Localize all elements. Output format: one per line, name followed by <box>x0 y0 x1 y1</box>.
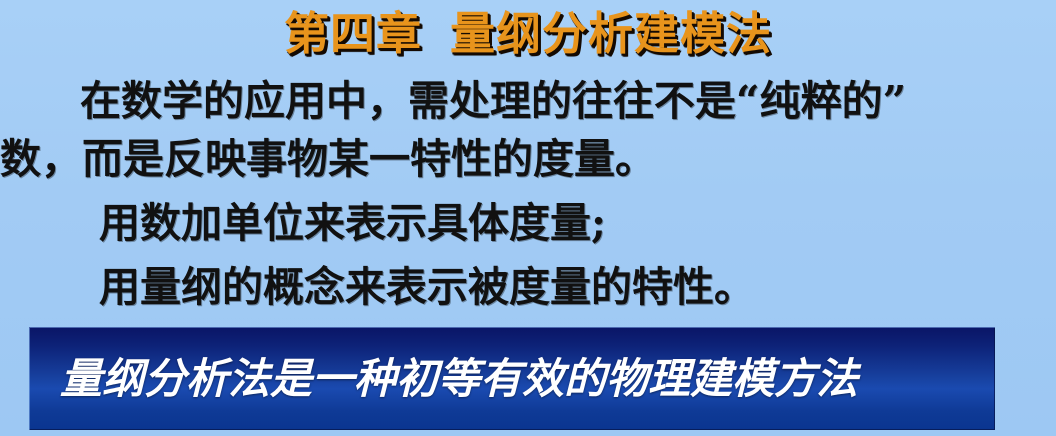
body-line-1: 在数学的应用中，需处理的往往不是“纯粹的” <box>0 72 1056 130</box>
banner-text: 量纲分析法是一种初等有效的物理建模方法 <box>60 351 858 407</box>
title-main-label: 量纲分析建模法 <box>450 7 772 60</box>
body-line-4: 用量纲的概念来表示被度量的特性。 <box>0 258 1056 316</box>
title-chapter-label: 第四章 <box>284 7 422 60</box>
page-title: 第四章量纲分析建模法 <box>0 6 1056 62</box>
slide-canvas: 第四章量纲分析建模法 在数学的应用中，需处理的往往不是“纯粹的” 数，而是反映事… <box>0 0 1056 436</box>
body-line-3: 用数加单位来表示具体度量; <box>0 194 1056 252</box>
body-text-block: 在数学的应用中，需处理的往往不是“纯粹的” 数，而是反映事物某一特性的度量。 用… <box>0 72 1056 316</box>
body-line-2: 数，而是反映事物某一特性的度量。 <box>0 130 1056 188</box>
highlight-banner: 量纲分析法是一种初等有效的物理建模方法 <box>29 327 995 430</box>
